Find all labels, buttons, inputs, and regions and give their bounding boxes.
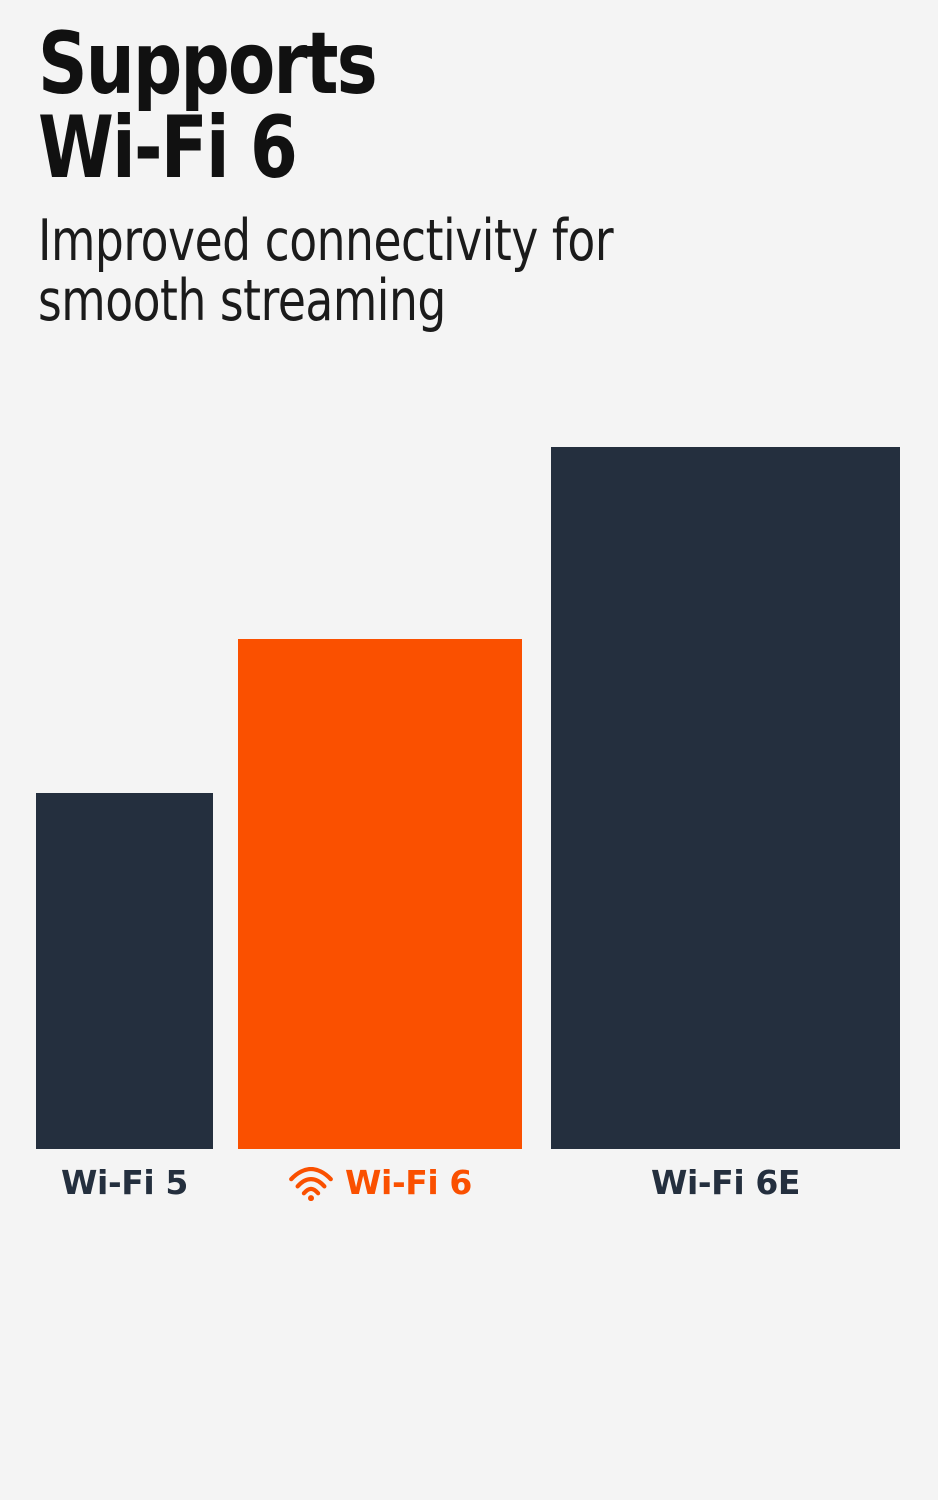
axis-label-wifi-5: Wi-Fi 5 bbox=[36, 1163, 213, 1202]
page-title: Supports Wi-Fi 6 bbox=[38, 22, 646, 191]
wifi-icon bbox=[288, 1167, 334, 1201]
axis-label-wifi-6e: Wi-Fi 6E bbox=[551, 1163, 900, 1202]
page-subtitle: Improved connectivity for smooth streami… bbox=[38, 191, 646, 332]
wifi-comparison-bar-chart: Wi-Fi 5 Wi-Fi 6 Wi-Fi 6E bbox=[0, 420, 938, 1220]
axis-label-text: Wi-Fi 6 bbox=[345, 1163, 472, 1202]
bar-wifi-6 bbox=[238, 639, 522, 1149]
chart-plot-area bbox=[0, 420, 938, 1149]
axis-label-text: Wi-Fi 6E bbox=[651, 1163, 800, 1202]
chart-axis-labels: Wi-Fi 5 Wi-Fi 6 Wi-Fi 6E bbox=[0, 1149, 938, 1219]
bar-wifi-6e bbox=[551, 447, 900, 1149]
bar-wifi-5 bbox=[36, 793, 213, 1149]
header-block: Supports Wi-Fi 6 Improved connectivity f… bbox=[38, 22, 798, 331]
axis-label-wifi-6: Wi-Fi 6 bbox=[238, 1163, 522, 1202]
axis-label-text: Wi-Fi 5 bbox=[61, 1163, 188, 1202]
